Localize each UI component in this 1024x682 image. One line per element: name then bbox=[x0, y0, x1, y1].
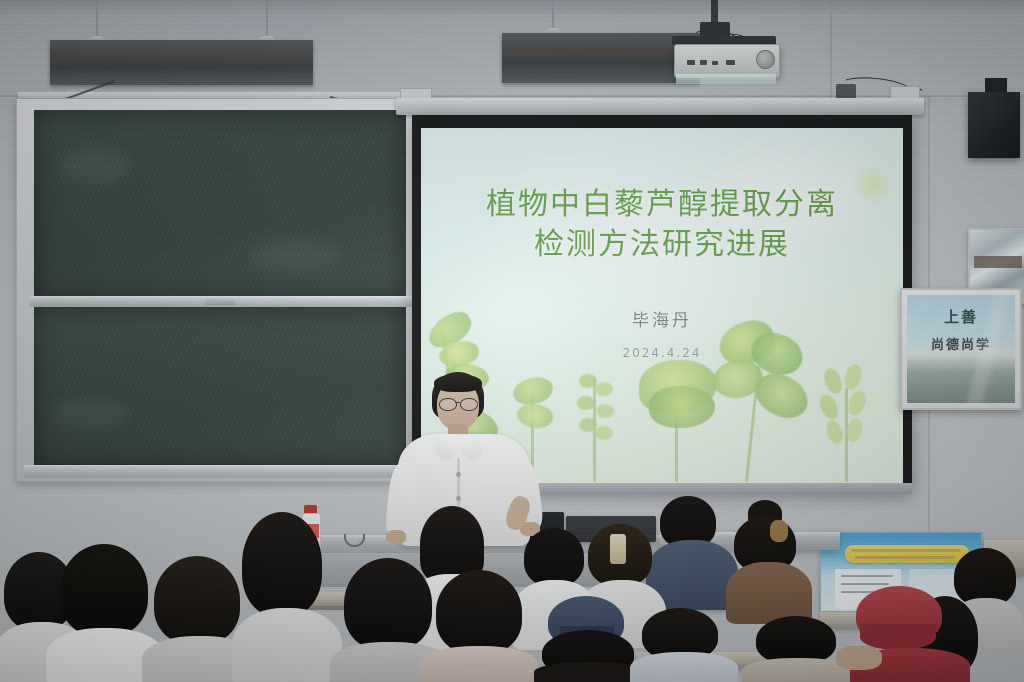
notice-headline-text bbox=[851, 549, 961, 552]
leaf-decoration bbox=[579, 374, 597, 388]
classroom-photo: 植物中白藜芦醇提取分离 检测方法研究进展 毕海丹 2024.4.24 上善 尚德… bbox=[0, 0, 1024, 682]
notice-headline-text bbox=[855, 556, 955, 559]
leaf-decoration bbox=[595, 382, 613, 396]
wall-speaker bbox=[968, 92, 1020, 158]
slide-title-line2: 检测方法研究进展 bbox=[421, 226, 903, 264]
leaf-decoration bbox=[579, 418, 597, 432]
student-center-right bbox=[420, 570, 538, 682]
raised-forearm bbox=[503, 494, 533, 533]
blackboard-smudge bbox=[60, 150, 130, 184]
projector-port bbox=[687, 60, 695, 65]
blackboard-surface-lower bbox=[34, 307, 406, 465]
leaf-decoration bbox=[596, 404, 614, 418]
light-rod bbox=[266, 0, 268, 40]
hair-highlight bbox=[770, 520, 788, 542]
blackboard-smudge bbox=[50, 400, 130, 428]
student-torso bbox=[232, 608, 342, 682]
projector-port bbox=[712, 61, 718, 65]
blackboard-smudge bbox=[250, 240, 340, 270]
student-hair bbox=[756, 616, 836, 664]
leaf-decoration bbox=[824, 418, 846, 445]
projector-light-output bbox=[676, 74, 776, 84]
hair-clip bbox=[610, 534, 626, 564]
projector-lens bbox=[756, 50, 775, 69]
ceiling-light-fixture-2 bbox=[502, 33, 700, 83]
glasses-bridge bbox=[455, 402, 460, 403]
student-hair bbox=[344, 558, 432, 650]
blackboard-bottom-rail bbox=[24, 465, 416, 478]
blackboard-surface-upper bbox=[34, 110, 406, 298]
ceiling-light-fixture bbox=[50, 40, 313, 85]
student-hair bbox=[154, 556, 240, 644]
blackboard-handle bbox=[205, 298, 235, 305]
slide-author: 毕海丹 bbox=[421, 306, 903, 331]
student-torso bbox=[420, 646, 538, 682]
presenter-hand-left bbox=[386, 530, 406, 544]
leaf-decoration bbox=[577, 396, 595, 410]
frame-inner-bar bbox=[974, 256, 1022, 268]
leaf-decoration bbox=[845, 388, 869, 418]
student-arm-raised bbox=[508, 496, 554, 536]
screen-roller-housing bbox=[396, 98, 924, 115]
student-left-3 bbox=[232, 512, 342, 682]
student-ponytail-spiky bbox=[726, 500, 812, 620]
poster-calligraphy-line2: 尚德尚学 bbox=[902, 334, 1020, 353]
presenter-button bbox=[456, 496, 461, 501]
leaf-decoration bbox=[821, 366, 846, 396]
student-hair bbox=[436, 570, 522, 654]
student-torso bbox=[630, 652, 738, 682]
glasses-lens-right bbox=[460, 398, 478, 411]
projector-port bbox=[726, 60, 735, 65]
leaf-decoration bbox=[649, 386, 715, 428]
projector-port bbox=[700, 60, 707, 65]
student-hair bbox=[60, 544, 148, 636]
student-hair bbox=[242, 512, 322, 616]
presenter-button bbox=[456, 472, 461, 477]
leaf-decoration bbox=[595, 426, 613, 440]
light-rod bbox=[552, 0, 554, 30]
projector-mount-pole bbox=[711, 0, 718, 24]
student-hand bbox=[836, 646, 882, 670]
notice-body-text bbox=[841, 583, 889, 585]
slide-date: 2024.4.24 bbox=[421, 346, 903, 360]
light-rod bbox=[96, 0, 98, 40]
framed-calligraphy-poster: 上善 尚德尚学 bbox=[900, 288, 1022, 410]
slide-title-line1: 植物中白藜芦醇提取分离 bbox=[421, 186, 903, 224]
student-blue-shirt-front bbox=[630, 608, 738, 682]
ceiling-band bbox=[0, 0, 1024, 14]
presenter-hair-fringe bbox=[434, 374, 482, 392]
leaf-decoration bbox=[816, 392, 842, 422]
glasses-lens-left bbox=[439, 398, 457, 411]
notice-body-text bbox=[841, 575, 893, 577]
student-hand-gesture bbox=[836, 640, 896, 682]
student-torso bbox=[726, 562, 812, 624]
